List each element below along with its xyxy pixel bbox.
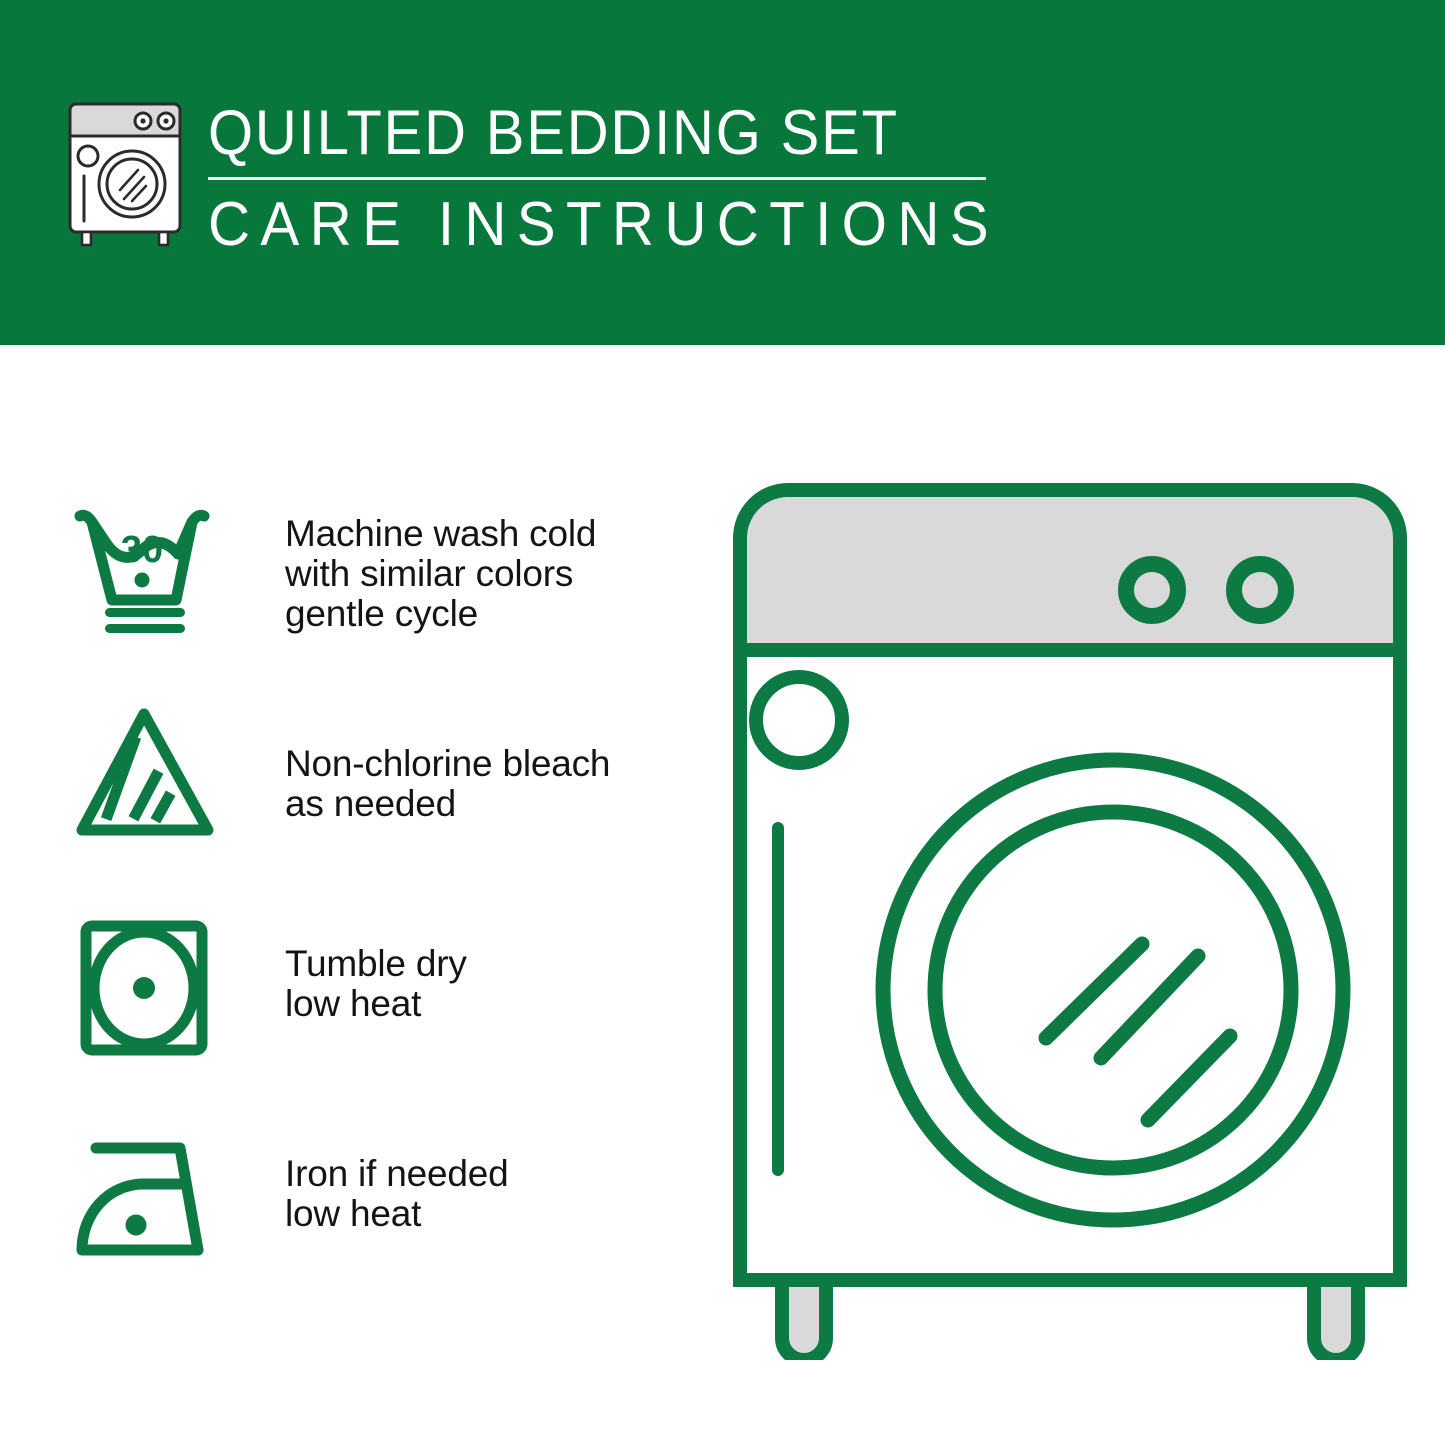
care-line: as needed xyxy=(285,784,692,824)
care-line: with similar colors xyxy=(285,554,692,594)
care-instructions-page: QUILTED BEDDING SET CARE INSTRUCTIONS 30 xyxy=(0,0,1445,1445)
care-line: Iron if needed xyxy=(285,1154,692,1194)
care-line: gentle cycle xyxy=(285,594,692,634)
care-row-iron: Iron if needed low heat xyxy=(72,1126,692,1336)
care-row-machine-wash: 30 Machine wash cold with similar colors… xyxy=(72,496,692,706)
tumble-dry-low-icon xyxy=(72,916,232,1066)
svg-text:30: 30 xyxy=(121,529,163,571)
care-instruction-list: 30 Machine wash cold with similar colors… xyxy=(72,496,692,1336)
care-row-tumble-dry: Tumble dry low heat xyxy=(72,916,692,1126)
header-text-block: QUILTED BEDDING SET CARE INSTRUCTIONS xyxy=(208,96,1049,258)
care-row-tumble-dry-label: Tumble dry low heat xyxy=(285,916,692,1024)
care-line: Non-chlorine bleach xyxy=(285,744,692,784)
front-load-washing-machine-illustration xyxy=(730,480,1410,1360)
care-row-iron-label: Iron if needed low heat xyxy=(285,1126,692,1234)
page-title: QUILTED BEDDING SET xyxy=(208,100,982,166)
header-content: QUILTED BEDDING SET CARE INSTRUCTIONS xyxy=(62,96,1049,258)
care-line: low heat xyxy=(285,1194,692,1234)
care-row-bleach: Non-chlorine bleach as needed xyxy=(72,706,692,916)
care-line: Machine wash cold xyxy=(285,514,692,554)
non-chlorine-bleach-icon xyxy=(72,706,232,856)
care-line: Tumble dry xyxy=(285,944,692,984)
care-line: low heat xyxy=(285,984,692,1024)
care-row-bleach-label: Non-chlorine bleach as needed xyxy=(285,706,692,824)
iron-low-heat-icon xyxy=(72,1126,232,1276)
title-divider xyxy=(208,177,986,180)
header-banner: QUILTED BEDDING SET CARE INSTRUCTIONS xyxy=(0,0,1445,345)
machine-wash-30-gentle-icon: 30 xyxy=(72,496,232,646)
care-row-machine-wash-label: Machine wash cold with similar colors ge… xyxy=(285,496,692,634)
washing-machine-icon xyxy=(62,96,188,248)
page-subtitle: CARE INSTRUCTIONS xyxy=(208,192,999,258)
